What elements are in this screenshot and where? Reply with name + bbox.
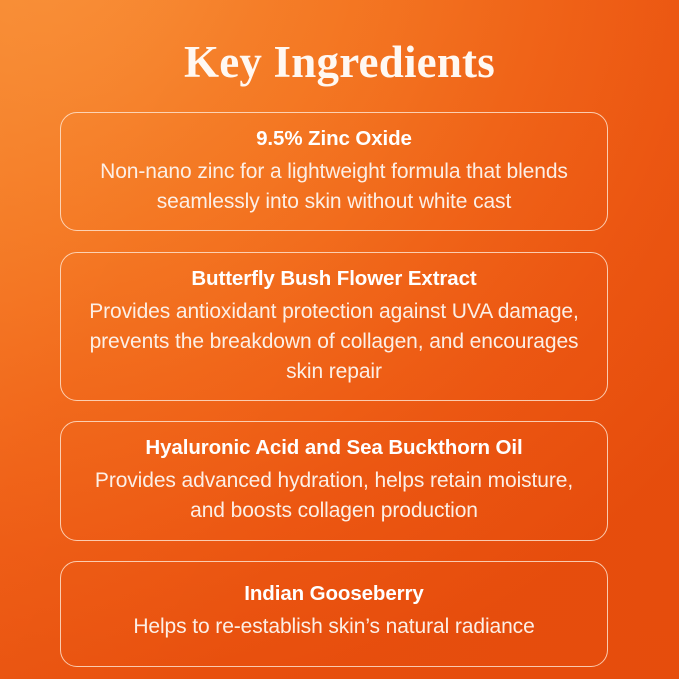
ingredient-card: Hyaluronic Acid and Sea Buckthorn Oil Pr… [60,421,608,541]
ingredients-poster: Key Ingredients 9.5% Zinc Oxide Non-nano… [0,0,679,679]
ingredient-description: Helps to re-establish skin’s natural rad… [81,612,587,642]
ingredient-name: Indian Gooseberry [81,580,587,608]
ingredient-name: 9.5% Zinc Oxide [81,125,587,153]
ingredient-description: Provides advanced hydration, helps retai… [81,466,587,526]
ingredient-name: Hyaluronic Acid and Sea Buckthorn Oil [81,434,587,462]
ingredient-description: Provides antioxidant protection against … [81,297,587,387]
page-title: Key Ingredients [0,36,679,88]
ingredient-description: Non-nano zinc for a lightweight formula … [81,157,587,217]
ingredient-card: 9.5% Zinc Oxide Non-nano zinc for a ligh… [60,112,608,231]
ingredient-name: Butterfly Bush Flower Extract [81,265,587,293]
ingredient-card: Butterfly Bush Flower Extract Provides a… [60,252,608,401]
ingredient-card-list: 9.5% Zinc Oxide Non-nano zinc for a ligh… [60,112,608,667]
ingredient-card: Indian Gooseberry Helps to re-establish … [60,561,608,667]
poster-content: Key Ingredients 9.5% Zinc Oxide Non-nano… [0,0,679,679]
